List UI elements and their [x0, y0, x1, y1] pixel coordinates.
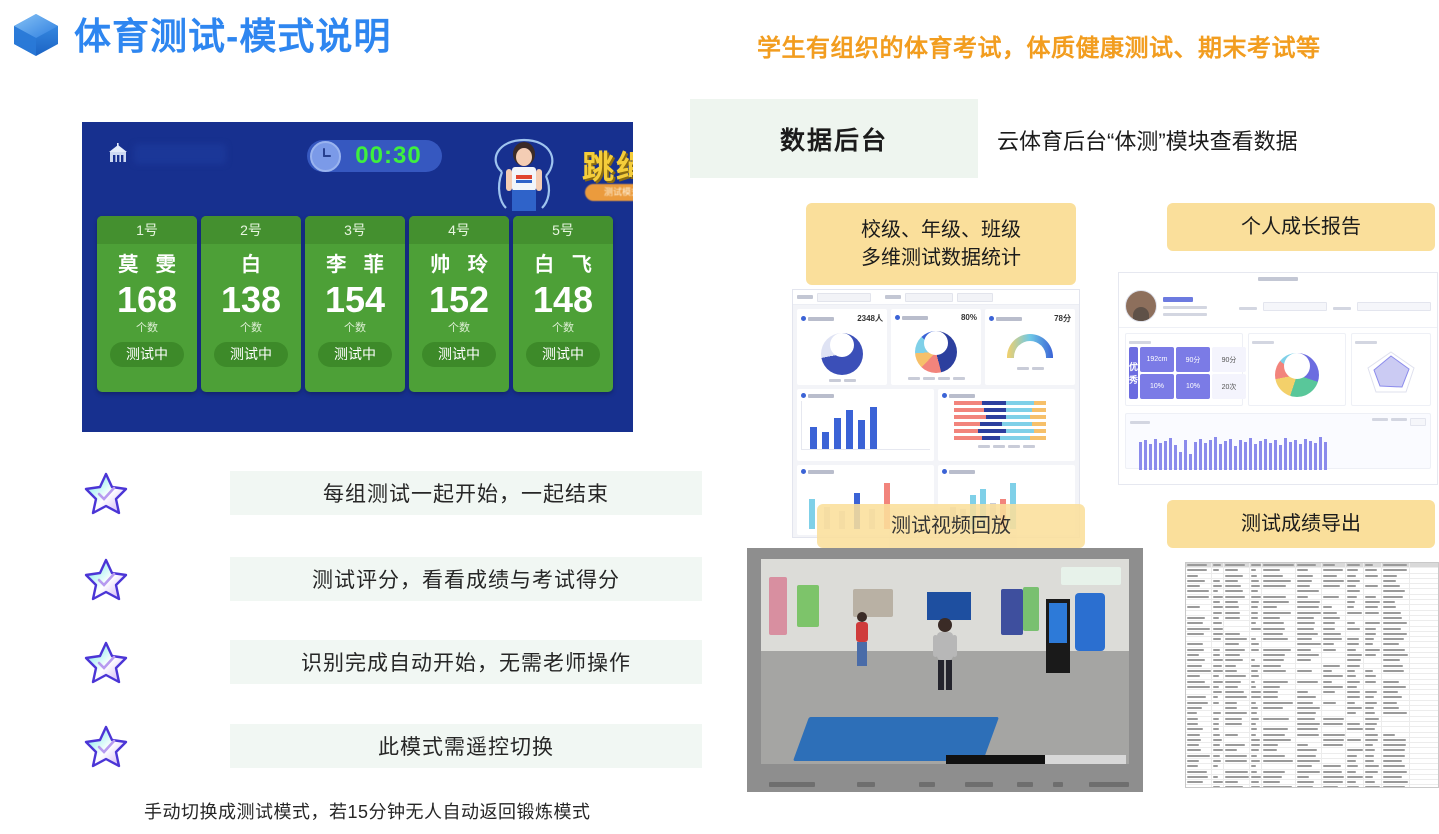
tag-line: 测试成绩导出	[1241, 510, 1361, 538]
table-cell	[1346, 717, 1364, 721]
table-cell	[1296, 770, 1322, 774]
table-cell	[1262, 627, 1296, 631]
table-cell	[1212, 600, 1224, 604]
table-cell	[1250, 637, 1262, 641]
table-cell	[1262, 579, 1296, 583]
table-cell	[1224, 764, 1250, 768]
table-cell	[1364, 743, 1382, 747]
table-cell	[1296, 695, 1322, 699]
table-cell	[1224, 738, 1250, 742]
table-cell	[1346, 770, 1364, 774]
student-id	[1163, 313, 1207, 316]
date-label	[1333, 307, 1351, 310]
table-cell	[1382, 589, 1410, 593]
table-cell	[1224, 775, 1250, 779]
table-cell	[1250, 727, 1262, 731]
table-cell	[1296, 738, 1322, 742]
table-cell	[1212, 658, 1224, 662]
stacked-bar-row	[954, 429, 1071, 433]
wall-figure	[769, 577, 787, 635]
kpi-icon	[895, 315, 900, 320]
metric-value: 90分	[1176, 347, 1210, 372]
table-cell	[1382, 621, 1410, 625]
table-cell	[1346, 748, 1364, 752]
table-cell	[1346, 780, 1364, 784]
table-cell	[1212, 695, 1224, 699]
student-count: 154	[305, 279, 405, 321]
table-cell	[1212, 738, 1224, 742]
table-cell	[1296, 589, 1322, 593]
table-cell	[1346, 738, 1364, 742]
table-cell	[1250, 658, 1262, 662]
table-cell	[1346, 600, 1364, 604]
table-cell	[1322, 738, 1346, 742]
table-cell	[1296, 621, 1322, 625]
table-cell	[1364, 611, 1382, 615]
table-cell	[1212, 706, 1224, 710]
score-distribution-card	[1248, 333, 1346, 406]
table-cell	[1364, 616, 1382, 620]
feature-bullet: 识别完成自动开始，无需老师操作	[82, 640, 627, 684]
table-cell	[1346, 785, 1364, 788]
fitness-radar-card	[1351, 333, 1431, 406]
bar-chart	[1130, 428, 1426, 470]
table-cell	[1364, 648, 1382, 652]
table-cell	[1346, 621, 1364, 625]
table-cell	[1296, 759, 1322, 763]
table-cell	[1364, 621, 1382, 625]
table-cell	[1382, 595, 1410, 599]
table-cell	[1322, 727, 1346, 731]
table-cell	[1322, 589, 1346, 593]
table-cell	[1250, 674, 1262, 678]
table-cell	[1296, 764, 1322, 768]
table-cell	[1250, 711, 1262, 715]
date-range-picker[interactable]	[1357, 302, 1431, 311]
table-cell	[1382, 685, 1410, 689]
filter-select[interactable]	[905, 293, 953, 302]
table-cell	[1296, 600, 1322, 604]
chart-title	[949, 470, 975, 474]
table-cell	[1382, 695, 1410, 699]
table-cell	[1382, 642, 1410, 646]
table-cell	[1296, 727, 1322, 731]
status-badge: 测试中	[214, 342, 288, 367]
table-cell	[1186, 748, 1212, 752]
table-cell	[1364, 579, 1382, 583]
table-cell	[1382, 616, 1410, 620]
table-cell	[1346, 701, 1364, 705]
table-cell	[1322, 642, 1346, 646]
table-cell	[1250, 770, 1262, 774]
stacked-bar-row	[954, 408, 1071, 412]
tag-growth-report: 个人成长报告	[1167, 203, 1435, 251]
legend-item	[953, 377, 965, 380]
student-avatar	[1125, 290, 1157, 322]
table-cell	[1364, 627, 1382, 631]
video-replay-screenshot[interactable]	[747, 548, 1143, 792]
school-name-blurred	[134, 144, 226, 164]
table-cell	[1224, 706, 1250, 710]
table-cell	[1322, 754, 1346, 758]
table-cell	[1322, 706, 1346, 710]
timer-value: 00:30	[341, 142, 442, 170]
table-cell	[1212, 780, 1224, 784]
table-cell	[1262, 600, 1296, 604]
table-cell	[1346, 695, 1364, 699]
table-cell	[1322, 722, 1346, 726]
term-select[interactable]	[1263, 302, 1327, 311]
table-cell	[1296, 653, 1322, 657]
table-cell	[1186, 563, 1212, 567]
table-cell	[1224, 669, 1250, 673]
table-cell	[1250, 605, 1262, 609]
kpi-title	[808, 317, 834, 321]
chart-title	[808, 394, 834, 398]
table-cell	[1364, 653, 1382, 657]
table-cell	[1186, 706, 1212, 710]
dashboard-filter-bar	[793, 290, 1079, 305]
table-cell	[1212, 733, 1224, 737]
legend-item	[908, 377, 920, 380]
school-building-icon	[106, 142, 130, 166]
stacked-bar-row	[954, 415, 1071, 419]
table-cell	[1212, 574, 1224, 578]
table-cell	[1186, 770, 1212, 774]
legend-item	[978, 445, 990, 448]
stacked-bar-row	[954, 422, 1071, 426]
table-cell	[1296, 690, 1322, 694]
student-name	[1163, 297, 1193, 302]
table-cell	[1186, 669, 1212, 673]
status-badge: 测试中	[110, 342, 184, 367]
table-cell	[1382, 748, 1410, 752]
table-cell	[1296, 701, 1322, 705]
donut-chart	[915, 331, 957, 373]
table-cell	[1262, 695, 1296, 699]
kpi-title	[996, 317, 1022, 321]
table-cell	[1346, 584, 1364, 588]
table-cell	[1250, 621, 1262, 625]
student-card: 5号 白 飞 148 个数 测试中	[513, 216, 613, 392]
table-cell	[1364, 574, 1382, 578]
table-cell	[1212, 722, 1224, 726]
table-cell	[1346, 775, 1364, 779]
student-name: 莫 雯	[97, 248, 197, 277]
table-cell	[1322, 680, 1346, 684]
table-cell	[1382, 563, 1410, 567]
stacked-bar-row	[954, 401, 1071, 405]
student-count: 168	[97, 279, 197, 321]
table-cell	[1346, 579, 1364, 583]
table-cell	[1346, 669, 1364, 673]
table-cell	[1186, 637, 1212, 641]
student-card: 1号 莫 雯 168 个数 测试中	[97, 216, 197, 392]
table-cell	[1322, 685, 1346, 689]
table-cell	[1346, 611, 1364, 615]
table-cell	[1250, 632, 1262, 636]
table-cell	[1262, 690, 1296, 694]
table-cell	[1382, 627, 1410, 631]
table-cell	[1364, 600, 1382, 604]
status-badge: 测试中	[318, 342, 392, 367]
table-cell	[1224, 759, 1250, 763]
table-cell	[1186, 764, 1212, 768]
wall-tree	[797, 585, 819, 627]
table-cell	[1346, 653, 1364, 657]
table-cell	[1212, 690, 1224, 694]
table-cell	[1186, 743, 1212, 747]
table-cell	[1262, 770, 1296, 774]
table-cell	[1296, 722, 1322, 726]
table-cell	[1262, 701, 1296, 705]
table-cell	[1212, 748, 1224, 752]
table-cell	[1296, 717, 1322, 721]
table-cell	[1224, 658, 1250, 662]
table-cell	[1322, 748, 1346, 752]
filter-label	[797, 295, 813, 299]
data-backend-description: 云体育后台“体测”模块查看数据	[997, 124, 1298, 156]
table-cell	[1224, 680, 1250, 684]
video-progress-bar[interactable]	[946, 755, 1126, 764]
table-cell	[1262, 759, 1296, 763]
table-cell	[1186, 589, 1212, 593]
table-cell	[1322, 648, 1346, 652]
table-cell	[1224, 648, 1250, 652]
table-cell	[1382, 690, 1410, 694]
table-cell	[1364, 706, 1382, 710]
student-number: 4号	[409, 216, 509, 244]
table-cell	[1212, 632, 1224, 636]
table-cell	[1250, 563, 1262, 567]
table-cell	[1262, 775, 1296, 779]
table-cell	[1382, 775, 1410, 779]
table-cell	[1322, 653, 1346, 657]
gauge-chart	[1007, 334, 1053, 358]
filter-select[interactable]	[957, 293, 993, 302]
student-card: 4号 帅 玲 152 个数 测试中	[409, 216, 509, 392]
video-caption-row	[747, 768, 1143, 792]
table-cell	[1322, 621, 1346, 625]
table-cell	[1382, 680, 1410, 684]
table-cell	[1322, 574, 1346, 578]
metric-value: 10%	[1140, 374, 1174, 399]
table-cell	[1186, 611, 1212, 615]
table-cell	[1262, 616, 1296, 620]
table-cell	[1364, 589, 1382, 593]
table-cell	[1296, 616, 1322, 620]
table-cell	[1250, 579, 1262, 583]
table-cell	[1382, 711, 1410, 715]
table-cell	[1224, 690, 1250, 694]
table-cell	[1250, 627, 1262, 631]
chart-card-grade-pass-rate	[938, 389, 1075, 461]
legend-item	[1032, 367, 1044, 370]
table-cell	[1186, 727, 1212, 731]
table-cell	[1186, 690, 1212, 694]
table-cell	[1296, 611, 1322, 615]
table-cell	[1224, 674, 1250, 678]
jump-rope-athlete-icon	[482, 132, 567, 220]
student-name: 李 菲	[305, 248, 405, 277]
kpi-icon	[801, 316, 806, 321]
table-cell	[1364, 584, 1382, 588]
bullet-text-box: 每组测试一起开始，一起结束	[230, 471, 702, 515]
table-cell	[1262, 648, 1296, 652]
table-cell	[1186, 685, 1212, 689]
table-cell	[1262, 674, 1296, 678]
table-cell	[1382, 674, 1410, 678]
table-cell	[1262, 717, 1296, 721]
table-cell	[1262, 605, 1296, 609]
table-cell	[1322, 711, 1346, 715]
table-cell	[1186, 775, 1212, 779]
table-cell	[1382, 722, 1410, 726]
table-cell	[1322, 568, 1346, 572]
table-cell	[1250, 780, 1262, 784]
table-cell	[1262, 748, 1296, 752]
table-cell	[1262, 653, 1296, 657]
table-cell	[1250, 589, 1262, 593]
bullet-text: 测试评分，看看成绩与考试得分	[312, 564, 620, 594]
bar	[846, 410, 853, 449]
table-cell	[1250, 669, 1262, 673]
table-cell	[1212, 727, 1224, 731]
table-cell	[1296, 648, 1322, 652]
report-title	[1119, 273, 1437, 285]
stacked-bar-row	[954, 436, 1071, 440]
table-cell	[1250, 743, 1262, 747]
table-cell	[1186, 711, 1212, 715]
metric-value: 20次	[1212, 374, 1246, 399]
table-cell	[1262, 637, 1296, 641]
table-cell	[1262, 611, 1296, 615]
table-cell	[1250, 701, 1262, 705]
table-cell	[1212, 669, 1224, 673]
table-cell	[1382, 759, 1410, 763]
table-cell	[1186, 664, 1212, 668]
table-cell	[1212, 759, 1224, 763]
table-cell	[1250, 759, 1262, 763]
table-cell	[1186, 605, 1212, 609]
table-cell	[1224, 785, 1250, 788]
chart-icon	[942, 393, 947, 398]
table-cell	[1296, 574, 1322, 578]
metric-value: 90分	[1212, 347, 1246, 372]
table-cell	[1262, 754, 1296, 758]
kpi-value: 78分	[1054, 313, 1071, 324]
table-cell	[1322, 664, 1346, 668]
table-cell	[1346, 642, 1364, 646]
legend-item	[993, 445, 1005, 448]
student-count: 148	[513, 279, 613, 321]
table-cell	[1212, 595, 1224, 599]
cube-logo-icon	[8, 8, 64, 62]
student-card: 3号 李 菲 154 个数 测试中	[305, 216, 405, 392]
table-cell	[1382, 664, 1410, 668]
table-cell	[1212, 743, 1224, 747]
table-cell	[1186, 648, 1212, 652]
table-cell	[1322, 701, 1346, 705]
table-cell	[1224, 605, 1250, 609]
table-cell	[1322, 605, 1346, 609]
kpi-title	[902, 316, 928, 320]
chart-icon	[942, 469, 947, 474]
score-export-spreadsheet	[1185, 562, 1439, 788]
report-header	[1119, 285, 1437, 328]
table-cell	[1322, 579, 1346, 583]
table-cell	[1382, 600, 1410, 604]
table-cell	[1262, 669, 1296, 673]
table-cell	[1224, 579, 1250, 583]
table-cell	[1212, 754, 1224, 758]
table-cell	[1346, 706, 1364, 710]
kpi-value: 80%	[961, 313, 977, 322]
table-cell	[1364, 595, 1382, 599]
table-cell	[1346, 637, 1364, 641]
table-cell	[1186, 632, 1212, 636]
table-cell	[1296, 775, 1322, 779]
table-cell	[1296, 680, 1322, 684]
grade-summary-card: 优秀 192cm 90分 90分 10% 10% 20次	[1125, 333, 1243, 406]
table-cell	[1224, 711, 1250, 715]
table-cell	[1346, 722, 1364, 726]
table-cell	[1364, 717, 1382, 721]
table-cell	[1382, 717, 1410, 721]
table-cell	[1322, 658, 1346, 662]
student-number: 1号	[97, 216, 197, 244]
table-cell	[1346, 568, 1364, 572]
table-cell	[1322, 717, 1346, 721]
table-cell	[1262, 743, 1296, 747]
table-cell	[1212, 674, 1224, 678]
table-cell	[1224, 685, 1250, 689]
filter-select[interactable]	[817, 293, 871, 302]
term-label	[1239, 307, 1257, 310]
table-cell	[1224, 754, 1250, 758]
rating-badge: 优秀	[1129, 347, 1138, 399]
table-cell	[1224, 743, 1250, 747]
table-cell	[1382, 770, 1410, 774]
kpi-card-average-score: 78分	[985, 309, 1075, 385]
table-cell	[1186, 658, 1212, 662]
table-cell	[1382, 780, 1410, 784]
table-cell	[1296, 674, 1322, 678]
legend-item	[923, 377, 935, 380]
table-cell	[1346, 563, 1364, 567]
table-cell	[1250, 717, 1262, 721]
table-cell	[1296, 733, 1322, 737]
table-cell	[1212, 621, 1224, 625]
table-cell	[1346, 711, 1364, 715]
table-cell	[1296, 664, 1322, 668]
table-cell	[1296, 642, 1322, 646]
radar-chart	[1364, 348, 1418, 398]
star-check-icon	[82, 555, 130, 603]
table-cell	[1296, 637, 1322, 641]
table-cell	[1262, 664, 1296, 668]
table-cell	[1322, 780, 1346, 784]
tag-video-replay: 测试视频回放	[817, 504, 1085, 548]
score-trend-card	[1125, 413, 1431, 469]
table-cell	[1296, 584, 1322, 588]
table-cell	[1224, 770, 1250, 774]
table-cell	[1262, 574, 1296, 578]
count-unit: 个数	[201, 319, 301, 335]
table-cell	[1346, 648, 1364, 652]
table-cell	[1224, 611, 1250, 615]
legend-item	[938, 377, 950, 380]
